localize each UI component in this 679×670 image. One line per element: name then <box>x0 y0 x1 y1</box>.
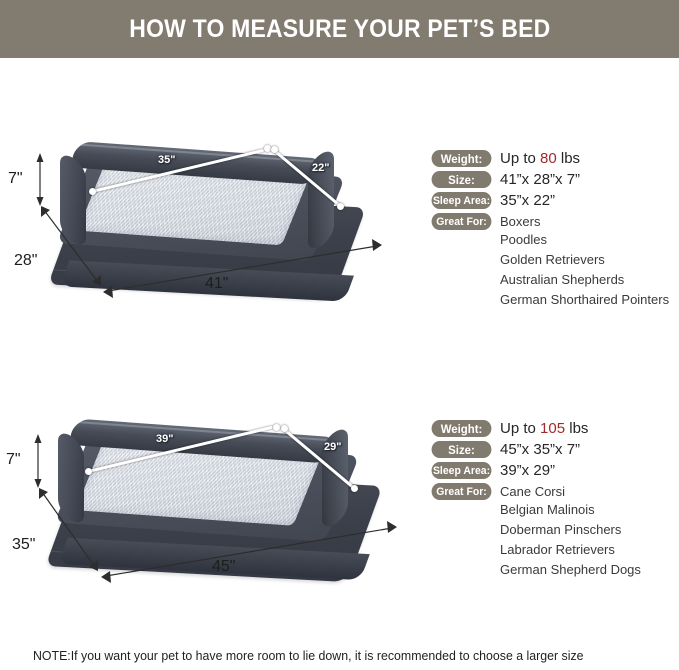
spec-label-weight: Weight: <box>432 420 492 437</box>
spec-row-weight: Weight: Up to 105 lbs <box>430 420 679 437</box>
breed-item: Poodles <box>500 230 669 250</box>
breed-item: Doberman Pinschers <box>500 520 641 540</box>
bed-height-label: 7" <box>6 451 21 469</box>
spec-value-weight: Up to 105 lbs <box>500 420 588 437</box>
bed-width-label: 41" <box>205 275 228 293</box>
spec-label-weight: Weight: <box>432 150 492 167</box>
spec-row-size: Size: 45”x 35”x 7” <box>430 441 679 458</box>
spec-row-size: Size: 41”x 28”x 7” <box>430 171 679 188</box>
sleep-width-dot-right <box>273 424 280 431</box>
breed-item: Australian Shepherds <box>500 270 669 290</box>
sleep-depth-dot-top <box>281 425 288 432</box>
sleep-width-label: 35" <box>158 154 175 166</box>
breed-item: Labrador Retrievers <box>500 540 641 560</box>
bed-section-large: 35" 22" 7" 28" 41" Weight: <box>0 110 679 390</box>
spec-row-great-for: Great For: Cane Corsi Belgian Malinois D… <box>430 483 679 580</box>
bed-depth-label: 35" <box>12 536 35 554</box>
breed-item: Golden Retrievers <box>500 250 669 270</box>
breed-item: German Shepherd Dogs <box>500 560 641 580</box>
breed-item: Belgian Malinois <box>500 500 641 520</box>
breed-item: Boxers <box>500 213 669 230</box>
spec-table-xlarge: Weight: Up to 105 lbs Size: 45”x 35”x 7”… <box>430 420 679 584</box>
bed-section-xlarge: 39" 29" 7" 35" 45" Weight: Up to 105 <box>0 390 679 670</box>
weight-suffix: lbs <box>557 150 580 167</box>
weight-suffix: lbs <box>565 420 588 437</box>
spec-label-great-for: Great For: <box>432 213 492 230</box>
weight-number: 80 <box>540 150 557 167</box>
page-title: HOW TO MEASURE YOUR PET’S BED <box>129 15 550 44</box>
weight-number: 105 <box>540 420 565 437</box>
sleep-depth-dot-bottom <box>351 485 358 492</box>
spec-row-sleep-area: Sleep Area: 39”x 29” <box>430 462 679 479</box>
sleep-width-dot-right <box>264 145 271 152</box>
bed-height-label: 7" <box>8 170 23 188</box>
sleep-width-label: 39" <box>156 433 173 445</box>
page-header: HOW TO MEASURE YOUR PET’S BED <box>0 0 679 58</box>
spec-value-sleep-area: 35”x 22” <box>500 192 555 209</box>
sleep-width-dot-left <box>85 468 92 475</box>
sleep-depth-label: 22" <box>312 162 329 174</box>
spec-label-size: Size: <box>432 171 492 188</box>
sleep-width-dot-left <box>89 188 96 195</box>
spec-label-great-for: Great For: <box>432 483 492 500</box>
bed-width-label: 45" <box>212 558 235 576</box>
sleep-depth-dot-top <box>271 146 278 153</box>
bed-depth-label: 28" <box>14 252 37 270</box>
spec-label-size: Size: <box>432 441 492 458</box>
spec-label-sleep-area: Sleep Area: <box>432 462 492 479</box>
spec-row-sleep-area: Sleep Area: 35”x 22” <box>430 192 679 209</box>
footer-note: NOTE:If you want your pet to have more r… <box>33 648 584 663</box>
breed-list: Boxers Poodles Golden Retrievers Austral… <box>500 213 669 310</box>
spec-row-weight: Weight: Up to 80 lbs <box>430 150 679 167</box>
breed-item: Cane Corsi <box>500 483 641 500</box>
sleep-depth-label: 29" <box>324 441 341 453</box>
spec-table-large: Weight: Up to 80 lbs Size: 41”x 28”x 7” … <box>430 150 679 314</box>
spec-value-weight: Up to 80 lbs <box>500 150 580 167</box>
weight-prefix: Up to <box>500 150 540 167</box>
spec-value-sleep-area: 39”x 29” <box>500 462 555 479</box>
breed-list: Cane Corsi Belgian Malinois Doberman Pin… <box>500 483 641 580</box>
weight-prefix: Up to <box>500 420 540 437</box>
pet-bed-large-illustration: 35" 22" 7" 28" 41" <box>0 110 420 340</box>
spec-value-size: 45”x 35”x 7” <box>500 441 580 458</box>
sleep-depth-dot-bottom <box>337 203 344 210</box>
breed-item: German Shorthaired Pointers <box>500 290 669 310</box>
spec-row-great-for: Great For: Boxers Poodles Golden Retriev… <box>430 213 679 310</box>
spec-value-size: 41”x 28”x 7” <box>500 171 580 188</box>
spec-label-sleep-area: Sleep Area: <box>432 192 492 209</box>
pet-bed-xlarge-illustration: 39" 29" 7" 35" 45" <box>0 390 420 620</box>
